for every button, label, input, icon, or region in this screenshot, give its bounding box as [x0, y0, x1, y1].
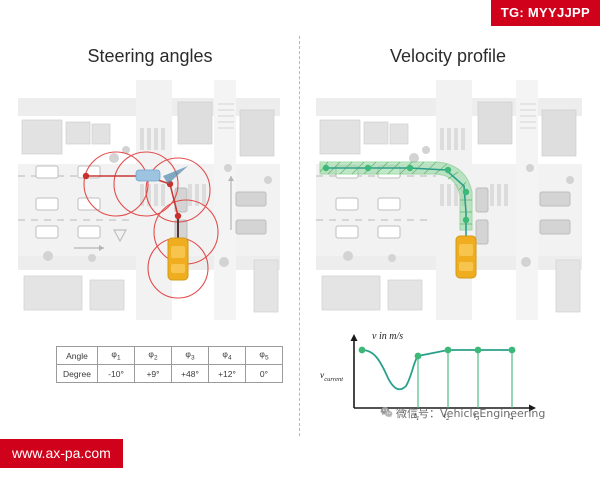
angle-cell-5: φ5	[246, 347, 283, 365]
velocity-profile-map	[316, 80, 582, 320]
wechat-icon	[380, 406, 393, 422]
row-label-angle: Angle	[57, 347, 98, 365]
degree-cell-1: -10°	[98, 365, 135, 383]
page-title-steering-angles: Steering angles	[20, 46, 280, 67]
page-title-velocity-profile: Velocity profile	[318, 46, 578, 67]
tg-tag-badge: TG: MYYJJPP	[491, 0, 600, 26]
row-label-degree: Degree	[57, 365, 98, 383]
degree-cell-2: +9°	[135, 365, 172, 383]
degree-cell-5: 0°	[246, 365, 283, 383]
wechat-text: 微信号：VehicleEngineering	[396, 407, 545, 420]
angle-cell-4: φ4	[209, 347, 246, 365]
panel-divider	[299, 36, 300, 436]
degree-cell-3: +48°	[172, 365, 209, 383]
ego-vehicle-right	[456, 236, 476, 278]
steering-angle-table: Angle φ1 φ2 φ3 φ4 φ5 Degree -10° +9° +48…	[56, 346, 283, 383]
velocity-y-axis-label: v in m/s	[372, 331, 403, 342]
angle-cell-2: φ2	[135, 347, 172, 365]
angle-cell-1: φ1	[98, 347, 135, 365]
ego-vehicle	[168, 238, 188, 280]
v-current-label: vcurrent	[320, 371, 343, 383]
degree-cell-4: +12°	[209, 365, 246, 383]
table-row-angle: Angle φ1 φ2 φ3 φ4 φ5	[57, 347, 283, 365]
steering-angles-map	[18, 80, 280, 320]
watermark-badge: www.ax-pa.com	[0, 439, 123, 468]
wechat-overlay: 微信号：VehicleEngineering	[380, 405, 545, 422]
page-root: Steering angles Velocity profile Angle φ…	[0, 0, 600, 480]
table-row-degree: Degree -10° +9° +48° +12° 0°	[57, 365, 283, 383]
angle-cell-3: φ3	[172, 347, 209, 365]
v-current-subscript: current	[324, 376, 343, 383]
